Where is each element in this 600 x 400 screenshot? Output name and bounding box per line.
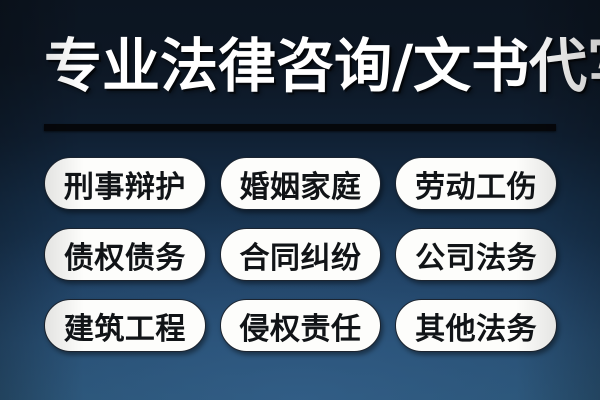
service-pill-tort-liability[interactable]: 侵权责任 (220, 299, 382, 352)
service-pill-marriage-family[interactable]: 婚姻家庭 (220, 157, 382, 210)
service-row-1: 刑事辩护 婚姻家庭 劳动工伤 (44, 157, 557, 210)
service-row-2: 债权债务 合同纠纷 公司法务 (44, 228, 557, 281)
service-pill-criminal-defense[interactable]: 刑事辩护 (44, 157, 206, 210)
service-row-3: 建筑工程 侵权责任 其他法务 (44, 299, 557, 352)
title-divider-rule (44, 124, 556, 131)
service-pill-contract-dispute[interactable]: 合同纠纷 (220, 228, 382, 281)
service-pill-corporate-legal[interactable]: 公司法务 (395, 228, 557, 281)
service-pill-other-legal[interactable]: 其他法务 (395, 299, 557, 352)
legal-services-poster: 专业法律咨询/文书代写 刑事辩护 婚姻家庭 劳动工伤 债权债务 合同纠纷 公司法… (0, 0, 600, 400)
page-title: 专业法律咨询/文书代写 (44, 30, 558, 102)
service-pill-labor-injury[interactable]: 劳动工伤 (395, 157, 557, 210)
service-pill-construction-engineering[interactable]: 建筑工程 (44, 299, 206, 352)
service-pill-creditor-debt[interactable]: 债权债务 (44, 228, 206, 281)
service-category-grid: 刑事辩护 婚姻家庭 劳动工伤 债权债务 合同纠纷 公司法务 建筑工程 侵权责任 … (44, 157, 557, 352)
